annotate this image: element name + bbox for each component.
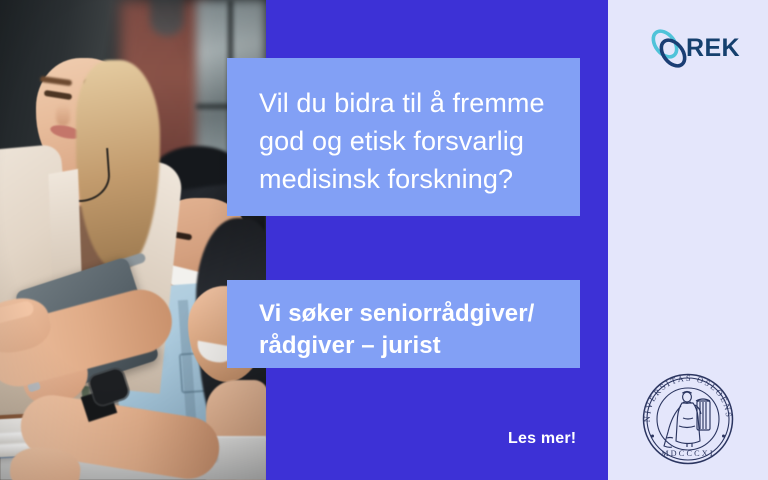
job-title-line-2: rådgiver – jurist — [259, 330, 580, 362]
headline-line-3: medisinsk forskning? — [259, 160, 580, 198]
uio-seal-bottom-text: MDCCCXI — [661, 449, 715, 458]
rek-logo: REK — [646, 26, 742, 74]
uio-university-seal-icon: UNIVERSITAS OSLOENSIS MDCCCXI — [637, 368, 739, 470]
job-title-box: Vi søker seniorrådgiver/ rådgiver – juri… — [227, 280, 580, 368]
headline-line-2: god og etisk forsvarlig — [259, 122, 580, 160]
headline-question-box: Vil du bidra til å fremme god og etisk f… — [227, 58, 580, 216]
headline-line-1: Vil du bidra til å fremme — [259, 84, 580, 122]
rek-wordmark: REK — [686, 36, 740, 61]
job-ad-banner: REK UNIVERSITAS OSLOENSIS MDCCCXI — [0, 0, 768, 480]
job-title-line-1: Vi søker seniorrådgiver/ — [259, 298, 580, 330]
read-more-link[interactable]: Les mer! — [508, 430, 576, 448]
